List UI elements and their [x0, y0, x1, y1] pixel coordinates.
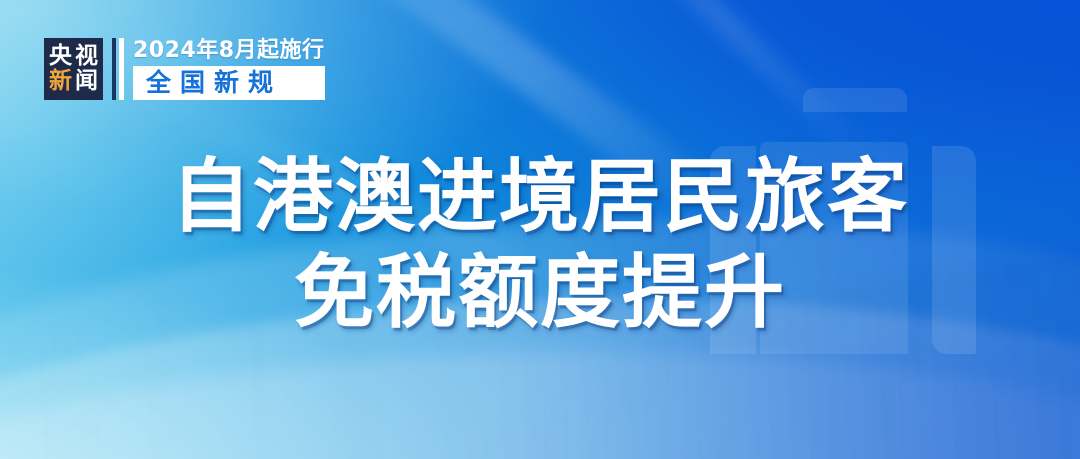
suitcase-left-panel-icon [710, 146, 756, 354]
logo-line-yangshi: 央 视 [48, 44, 100, 69]
suitcase-handle-icon [803, 88, 907, 112]
divider-bar-navy [112, 38, 116, 100]
suitcase-silhouette-icon [700, 88, 1000, 356]
logo-line-xinwen: 新 闻 [48, 69, 100, 94]
poster-canvas: 央 视 新 闻 2024年8月起施行 全国新规 自港澳进境居民旅客 免税额度提升 [0, 0, 1080, 459]
divider-bar-white [119, 38, 124, 100]
national-rules-band: 全国新规 [133, 66, 325, 100]
header-divider [112, 38, 124, 100]
suitcase-main-body-icon [760, 142, 908, 354]
header-badge-row: 央 视 新 闻 2024年8月起施行 全国新规 [44, 38, 325, 100]
logo-char-wen: 闻 [74, 69, 100, 94]
header-text-stack: 2024年8月起施行 全国新规 [133, 38, 325, 100]
national-rules-label: 全国新规 [143, 70, 282, 96]
suitcase-right-panel-icon [932, 146, 976, 354]
logo-char-shi: 视 [74, 44, 100, 69]
effective-date-kicker: 2024年8月起施行 [133, 38, 325, 63]
logo-char-xin: 新 [48, 69, 74, 94]
logo-char-yang: 央 [48, 44, 74, 69]
cctv-news-logo: 央 视 新 闻 [44, 38, 103, 100]
